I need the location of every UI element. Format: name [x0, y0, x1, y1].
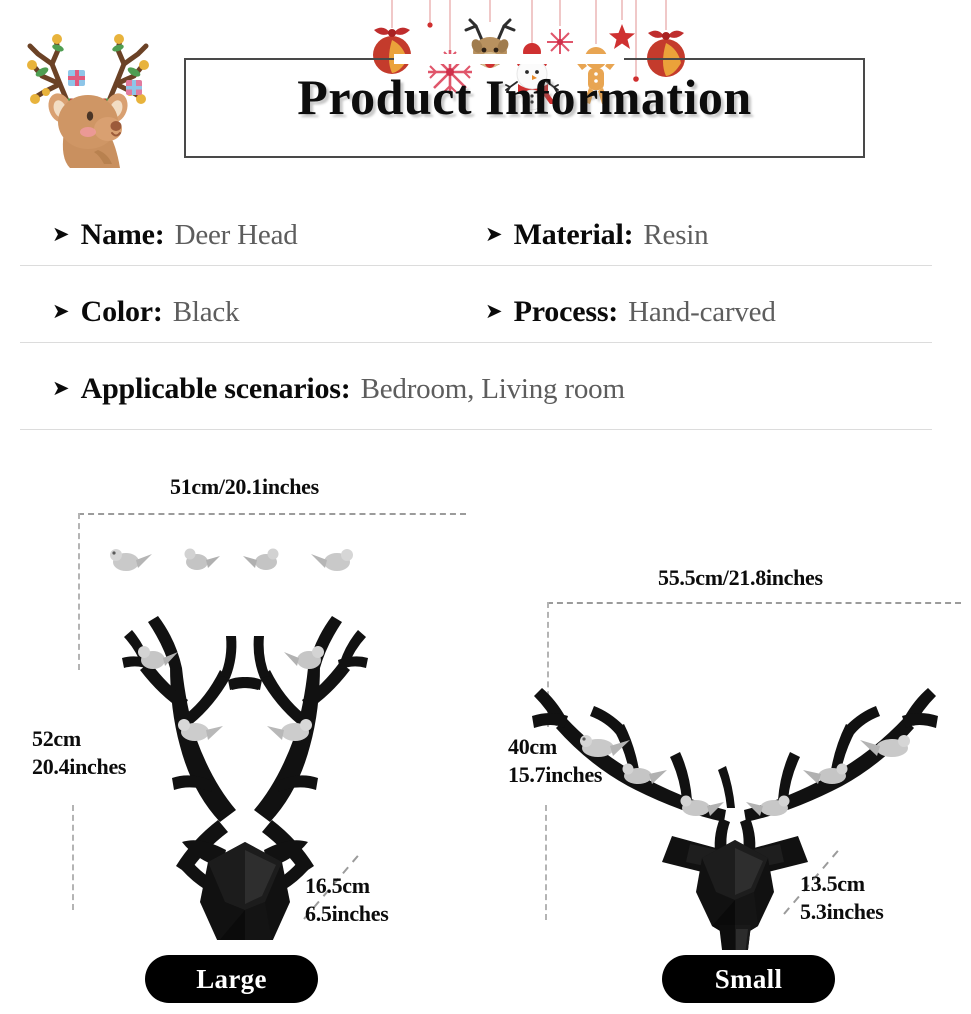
spec-divider [20, 342, 932, 343]
product-panel-small: 55.5cm/21.8inches 40cm 15.7inches 13.5cm… [490, 450, 971, 1014]
silver-bird-icon [803, 764, 848, 785]
small-red-dot-icon [427, 22, 432, 27]
spec-row: ➤ Applicable scenarios: Bedroom, Living … [0, 358, 971, 420]
spec-label: Material: [514, 218, 634, 252]
triangle-bullet-icon: ➤ [485, 224, 503, 245]
christmas-reindeer-icon [8, 12, 168, 172]
triangle-bullet-icon: ➤ [52, 301, 70, 322]
silver-bird-icon [267, 719, 312, 741]
silver-bird-icon [178, 719, 223, 741]
spec-divider [20, 429, 932, 430]
page-title: Product Information [184, 68, 865, 126]
spec-row: ➤ Color: Black ➤ Process: Hand-carved [0, 281, 971, 343]
spec-item-applicable-scenarios: ➤ Applicable scenarios: Bedroom, Living … [52, 358, 625, 420]
size-pill-small[interactable]: Small [662, 955, 835, 1003]
spec-label: Name: [81, 218, 165, 252]
spec-value: Black [173, 296, 240, 329]
red-star-icon [609, 24, 635, 49]
product-panel-large: 51cm/20.1inches 52cm 20.4inches 16.5cm 6… [0, 450, 490, 1014]
spec-divider [20, 265, 932, 266]
spec-item-material: ➤ Material: Resin [485, 204, 708, 266]
silver-bird-icon [284, 646, 324, 669]
black-deer-head-small-icon [520, 600, 950, 950]
dimension-label-width: 51cm/20.1inches [170, 474, 319, 500]
spec-value: Hand-carved [628, 296, 776, 329]
header: Product Information [0, 0, 971, 190]
small-red-snowflake-icon [547, 29, 573, 55]
spec-item-process: ➤ Process: Hand-carved [485, 281, 776, 343]
black-deer-head-large-icon [40, 510, 450, 940]
size-pill-large[interactable]: Large [145, 955, 318, 1003]
triangle-bullet-icon: ➤ [52, 224, 70, 245]
product-spec-list: ➤ Name: Deer Head ➤ Material: Resin ➤ Co… [0, 196, 971, 441]
spec-item-name: ➤ Name: Deer Head [52, 204, 298, 266]
title-frame-top-gap [394, 54, 624, 64]
silver-bird-icon [311, 549, 353, 571]
silver-bird-icon [623, 764, 668, 785]
spec-value: Deer Head [175, 219, 298, 252]
silver-bird-icon [243, 549, 279, 571]
spec-value: Resin [643, 219, 708, 252]
triangle-bullet-icon: ➤ [485, 301, 503, 322]
silver-bird-icon [185, 549, 221, 571]
spec-label: Process: [514, 295, 618, 329]
spec-label: Applicable scenarios: [81, 372, 351, 406]
spec-value: Bedroom, Living room [361, 373, 625, 406]
spec-item-color: ➤ Color: Black [52, 281, 239, 343]
triangle-bullet-icon: ➤ [52, 378, 70, 399]
silver-bird-icon [110, 549, 152, 571]
spec-row: ➤ Name: Deer Head ➤ Material: Resin [0, 204, 971, 266]
dimension-label-width: 55.5cm/21.8inches [658, 565, 823, 591]
spec-label: Color: [81, 295, 163, 329]
